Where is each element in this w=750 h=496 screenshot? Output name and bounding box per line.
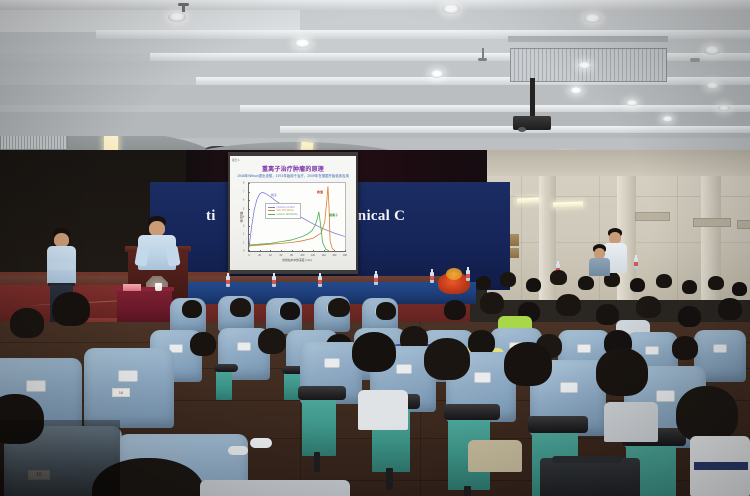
head bbox=[676, 386, 738, 442]
downlight-icon bbox=[718, 105, 730, 111]
x-tick bbox=[302, 250, 303, 252]
head bbox=[54, 233, 69, 247]
projector-mount bbox=[530, 78, 535, 116]
arm bbox=[48, 262, 75, 270]
ceiling-mount-icon bbox=[182, 5, 185, 12]
downlight-icon bbox=[570, 87, 582, 94]
ceiling-mount-icon bbox=[482, 48, 484, 58]
table-item-box bbox=[123, 284, 141, 291]
downlight-icon bbox=[662, 116, 673, 122]
y-tick bbox=[248, 234, 250, 235]
y-tick bbox=[248, 251, 250, 252]
slide-surface: 报告人 重离子治疗肿瘤的原理 1946年Wilson提出设想，1974年始用于治… bbox=[230, 156, 356, 270]
curve-label-photon: 光子 bbox=[271, 193, 277, 197]
table-item-cup bbox=[155, 283, 162, 291]
y-tick-label: 2 bbox=[243, 233, 244, 236]
person-shirt bbox=[604, 402, 658, 442]
ceiling-mount-icon bbox=[478, 58, 487, 61]
legend-swatch bbox=[268, 210, 275, 211]
y-tick bbox=[248, 243, 250, 244]
foreground-shadow-left bbox=[0, 420, 120, 496]
slide-title: 重离子治疗肿瘤的原理 bbox=[230, 164, 356, 173]
backpack bbox=[540, 458, 640, 496]
water-bottle bbox=[374, 274, 378, 285]
curve-label-carbon: 碳离子 bbox=[329, 213, 338, 217]
y-tick-label: 7 bbox=[243, 190, 244, 193]
y-tick bbox=[248, 209, 250, 210]
lecture-hall-photo: ti anical C 报告人 重离子治疗肿瘤的原理 1946年Wilson提出… bbox=[0, 0, 750, 496]
y-tick-label: 4 bbox=[243, 216, 244, 219]
projector-lens-icon bbox=[518, 127, 526, 132]
x-tick bbox=[281, 250, 282, 252]
wall-light-icon bbox=[517, 197, 539, 203]
downlight-icon bbox=[578, 62, 591, 69]
ceiling-mount-icon bbox=[178, 3, 189, 6]
y-tick bbox=[248, 200, 250, 201]
y-tick-label: 1 bbox=[243, 241, 244, 244]
x-tick bbox=[260, 250, 261, 252]
person-shorts bbox=[468, 440, 522, 472]
x-tick-label: 120 bbox=[311, 254, 315, 257]
head bbox=[424, 338, 470, 380]
head bbox=[352, 332, 396, 372]
y-tick-label: 6 bbox=[243, 199, 244, 202]
legend-label: protons 148 MeV/u bbox=[277, 213, 298, 216]
x-tick-label: 140 bbox=[322, 254, 326, 257]
banner-text-left: ti bbox=[206, 208, 216, 225]
legend-swatch bbox=[268, 214, 275, 215]
air-vent-icon bbox=[0, 136, 68, 150]
downlight-icon bbox=[168, 12, 186, 22]
x-tick bbox=[292, 250, 293, 252]
head bbox=[504, 342, 552, 386]
ceiling-mount-icon bbox=[690, 58, 700, 62]
water-bottle bbox=[430, 272, 434, 283]
person-shirt bbox=[358, 390, 408, 430]
wall-plaque bbox=[737, 220, 750, 229]
x-tick-label: 60 bbox=[280, 254, 283, 257]
y-tick-label: 5 bbox=[243, 207, 244, 210]
chart-series bbox=[249, 192, 345, 247]
x-tick bbox=[334, 250, 335, 252]
x-tick bbox=[313, 250, 314, 252]
y-tick bbox=[248, 183, 250, 184]
wall-plaque bbox=[693, 218, 731, 227]
x-tick-label: 80 bbox=[290, 254, 293, 257]
x-tick-label: 0 bbox=[248, 254, 249, 257]
y-tick bbox=[248, 217, 250, 218]
x-tick-label: 20 bbox=[258, 254, 261, 257]
legend-swatch bbox=[268, 207, 275, 208]
x-tick bbox=[324, 250, 325, 252]
projection-screen: 报告人 重离子治疗肿瘤的原理 1946年Wilson提出设想，1974年始用于治… bbox=[228, 152, 358, 274]
shirt-stripe bbox=[694, 462, 748, 470]
chart-legend: photons 21 MeV12C 270 MeV/uprotons 148 M… bbox=[265, 203, 301, 219]
x-tick-label: 180 bbox=[343, 254, 347, 257]
y-tick bbox=[248, 226, 250, 227]
legend-item: protons 148 MeV/u bbox=[268, 213, 298, 216]
curve-label-peak: 峰值 bbox=[317, 190, 323, 194]
x-tick-label: 40 bbox=[269, 254, 272, 257]
head bbox=[149, 221, 165, 236]
head bbox=[596, 348, 648, 396]
upper-right-wall bbox=[487, 150, 750, 176]
stage-table bbox=[117, 290, 172, 324]
y-tick bbox=[248, 192, 250, 193]
water-bottle bbox=[226, 276, 230, 287]
downlight-icon bbox=[626, 100, 638, 106]
shoe bbox=[228, 446, 248, 455]
chart-xlabel: 射线在水中的深度 (mm) bbox=[249, 258, 345, 262]
x-tick bbox=[270, 250, 271, 252]
downlight-icon bbox=[704, 46, 720, 55]
speaker-at-podium bbox=[136, 216, 178, 276]
bag-strap bbox=[552, 456, 622, 463]
slide-tag: 报告人 bbox=[232, 158, 240, 162]
downlight-icon bbox=[706, 82, 719, 89]
y-tick-label: 3 bbox=[243, 224, 244, 227]
downlight-icon bbox=[584, 14, 601, 23]
slide-subtitle: 1946年Wilson提出设想，1974年始用于治疗，2009年在德国开始临床应… bbox=[230, 173, 356, 178]
shoe bbox=[250, 438, 272, 448]
head bbox=[52, 292, 90, 326]
head bbox=[10, 308, 44, 338]
wall-light-icon bbox=[553, 201, 583, 207]
downlight-icon bbox=[430, 70, 444, 78]
x-tick-label: 160 bbox=[332, 254, 336, 257]
y-tick-label: 0 bbox=[243, 250, 244, 253]
water-bottle bbox=[318, 276, 322, 287]
downlight-icon bbox=[442, 4, 460, 14]
person-shirt bbox=[200, 480, 350, 496]
downlight-icon bbox=[294, 39, 311, 48]
x-tick-label: 100 bbox=[300, 254, 304, 257]
x-tick bbox=[345, 250, 346, 252]
banner-text-right: anical C bbox=[350, 208, 405, 225]
water-bottle bbox=[272, 276, 276, 287]
wall-plaque bbox=[635, 212, 670, 221]
y-tick-label: 8 bbox=[243, 182, 244, 185]
bragg-peak-chart: photons 21 MeV12C 270 MeV/uprotons 148 M… bbox=[248, 182, 346, 252]
